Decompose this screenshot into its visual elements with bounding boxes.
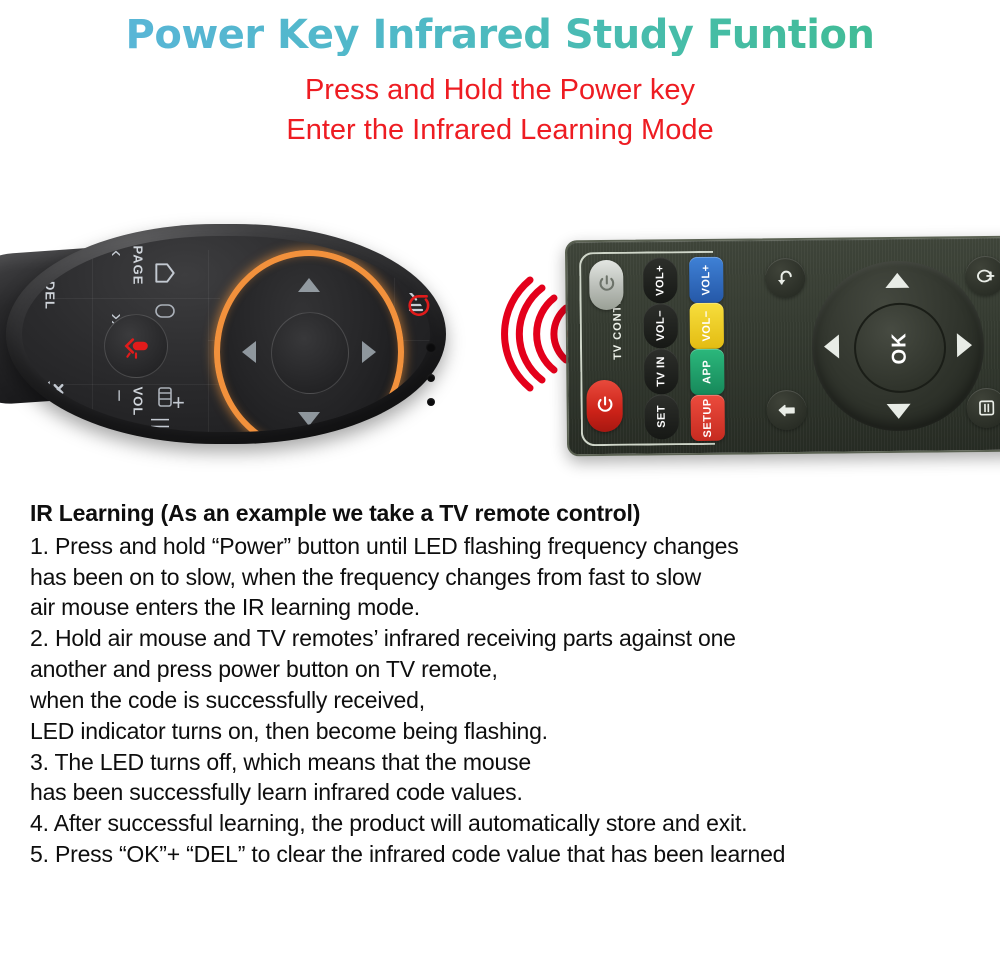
- dpad-up-arrow-icon[interactable]: [298, 278, 320, 292]
- led-indicator: [427, 398, 435, 406]
- tv-control-key-column: VOL+ VOL− TV IN SET: [643, 257, 679, 439]
- air-mouse-body: DEL PAGE ‹‹ ››: [6, 224, 446, 444]
- instruction-line: 4. After successful learning, the produc…: [30, 808, 980, 839]
- air-mouse-dpad[interactable]: [214, 250, 404, 432]
- air-mouse-faceplate: DEL PAGE ‹‹ ››: [22, 236, 430, 432]
- subtitle-block: Press and Hold the Power key Enter the I…: [0, 70, 1000, 150]
- instructions-heading: IR Learning (As an example we take a TV …: [30, 498, 980, 529]
- dpad-right-arrow-icon[interactable]: [362, 341, 376, 363]
- nav-right-arrow-icon[interactable]: [957, 333, 972, 357]
- instruction-line: 5. Press “OK”+ “DEL” to clear the infrar…: [30, 839, 980, 870]
- tv-power-red-button[interactable]: [586, 380, 623, 432]
- key-divider: [52, 298, 220, 299]
- instruction-line: air mouse enters the IR learning mode.: [30, 592, 980, 623]
- tv-key-label: TV IN: [655, 356, 667, 387]
- menu-bars-icon[interactable]: |||: [151, 417, 170, 432]
- instruction-line: when the code is successfully received,: [30, 685, 980, 716]
- home-icon[interactable]: [766, 390, 806, 430]
- tv-ok-button[interactable]: OK: [854, 302, 947, 393]
- air-mouse-cursor-icon: [121, 331, 151, 361]
- mouse-icon[interactable]: [150, 302, 176, 320]
- header: Power Key Infrared Study Funtion Press a…: [0, 0, 1000, 150]
- nav-left-arrow-icon[interactable]: [824, 335, 839, 359]
- led-indicator: [426, 342, 436, 352]
- instruction-line: 1. Press and hold “Power” button until L…: [30, 531, 980, 562]
- key-label: APP: [701, 360, 713, 384]
- product-illustration: DEL PAGE ‹‹ ››: [0, 176, 1000, 486]
- key-label: VOL+: [700, 264, 712, 295]
- menu-icon[interactable]: [966, 388, 1000, 428]
- tv-key-vol-up[interactable]: VOL+: [643, 257, 677, 303]
- tv-ok-label: OK: [888, 332, 911, 364]
- refresh-icon[interactable]: [402, 380, 430, 410]
- nav-up-arrow-icon[interactable]: [885, 273, 909, 288]
- keyboard-icon[interactable]: [152, 386, 174, 408]
- key-label: SETUP: [702, 398, 714, 437]
- instruction-line: has been successfully learn infrared cod…: [30, 777, 980, 808]
- subtitle-line-1: Press and Hold the Power key: [0, 70, 1000, 110]
- tv-color-key-column: VOL+ VOL− APP SETUP: [689, 257, 725, 439]
- air-mouse-key-del[interactable]: DEL: [43, 270, 58, 322]
- air-mouse-power-icon[interactable]: [406, 292, 432, 322]
- key-app[interactable]: APP: [690, 349, 724, 395]
- page-title: Power Key Infrared Study Funtion: [0, 14, 1000, 56]
- tv-key-label: VOL−: [655, 310, 667, 341]
- minus-icon[interactable]: –: [110, 390, 129, 401]
- air-mouse-ok-key[interactable]: [271, 312, 349, 394]
- dpad-down-arrow-icon[interactable]: [298, 412, 320, 426]
- tv-key-tv-in[interactable]: TV IN: [644, 348, 678, 394]
- key-setup[interactable]: SETUP: [691, 395, 725, 441]
- return-icon[interactable]: [765, 258, 805, 298]
- key-divider: [92, 250, 93, 432]
- key-vol-up[interactable]: VOL+: [689, 257, 723, 303]
- instruction-line: has been on to slow, when the frequency …: [30, 562, 980, 593]
- instruction-line: LED indicator turns on, then become bein…: [30, 716, 980, 747]
- tv-navigation-pad[interactable]: OK: [811, 260, 985, 432]
- air-mouse-key-vol[interactable]: VOL: [131, 370, 146, 433]
- power-icon: [595, 394, 614, 417]
- tv-power-silver-button[interactable]: [589, 260, 624, 310]
- mute-icon[interactable]: [36, 374, 66, 408]
- power-icon: [597, 273, 616, 296]
- chevron-left-icon[interactable]: ‹‹: [107, 243, 127, 256]
- home-icon[interactable]: [148, 260, 178, 286]
- air-mouse-aim-key[interactable]: [104, 314, 168, 378]
- air-mouse-remote: DEL PAGE ‹‹ ››: [0, 224, 468, 446]
- instruction-line: another and press power button on TV rem…: [30, 654, 980, 685]
- subtitle-line-2: Enter the Infrared Learning Mode: [0, 110, 1000, 150]
- led-indicator: [427, 374, 435, 382]
- key-label: VOL−: [701, 310, 713, 341]
- input-source-icon[interactable]: [965, 256, 1000, 296]
- dpad-left-arrow-icon[interactable]: [242, 341, 256, 363]
- tv-remote-control: TV CONTROL VOL+ VOL−: [565, 236, 1000, 457]
- nav-down-arrow-icon[interactable]: [887, 404, 911, 419]
- instructions-block: IR Learning (As an example we take a TV …: [30, 498, 980, 870]
- tv-key-vol-down[interactable]: VOL−: [644, 303, 678, 349]
- key-divider: [208, 250, 209, 432]
- tv-key-label: VOL+: [654, 265, 666, 296]
- instruction-line: 2. Hold air mouse and TV remotes’ infrar…: [30, 623, 980, 654]
- key-vol-down[interactable]: VOL−: [690, 303, 724, 349]
- tv-key-set[interactable]: SET: [644, 394, 678, 440]
- tv-key-label: SET: [656, 405, 668, 428]
- instruction-line: 3. The LED turns off, which means that t…: [30, 747, 980, 778]
- air-mouse-key-page[interactable]: PAGE: [131, 236, 146, 296]
